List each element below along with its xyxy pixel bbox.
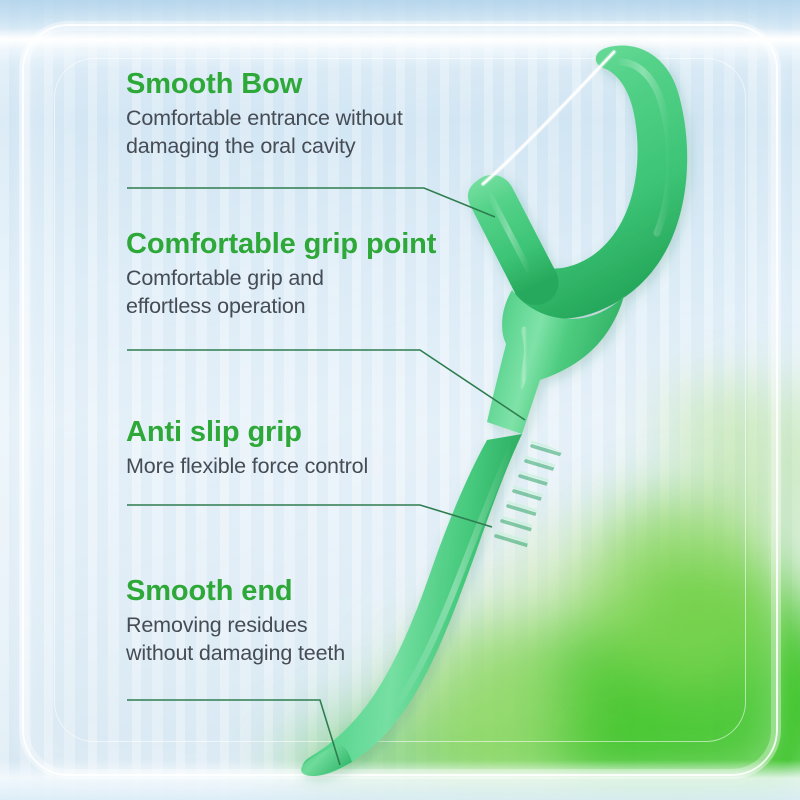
leader-line-grip-point bbox=[127, 350, 525, 420]
leader-line-anti-slip-grip bbox=[127, 505, 492, 527]
feature-desc-line: Comfortable entrance without bbox=[126, 105, 403, 133]
feature-title-comfortable-grip-point: Comfortable grip point bbox=[126, 228, 436, 260]
feature-desc-line: damaging the oral cavity bbox=[126, 133, 403, 161]
feature-desc-line: Removing residues bbox=[126, 612, 345, 640]
leader-line-smooth-end bbox=[127, 700, 340, 765]
feature-smooth-end: Smooth end Removing residues without dam… bbox=[126, 575, 345, 668]
feature-desc-smooth-end: Removing residues without damaging teeth bbox=[126, 612, 345, 667]
infographic-scene: Smooth Bow Comfortable entrance without … bbox=[0, 0, 800, 800]
feature-desc-line: without damaging teeth bbox=[126, 640, 345, 668]
feature-smooth-bow: Smooth Bow Comfortable entrance without … bbox=[126, 68, 403, 161]
feature-comfortable-grip-point: Comfortable grip point Comfortable grip … bbox=[126, 228, 436, 321]
feature-desc-line: More flexible force control bbox=[126, 453, 368, 481]
feature-desc-anti-slip-grip: More flexible force control bbox=[126, 453, 368, 481]
feature-title-smooth-bow: Smooth Bow bbox=[126, 68, 403, 100]
feature-desc-line: Comfortable grip and bbox=[126, 265, 436, 293]
feature-desc-line: effortless operation bbox=[126, 293, 436, 321]
feature-desc-comfortable-grip-point: Comfortable grip and effortless operatio… bbox=[126, 265, 436, 320]
feature-title-anti-slip-grip: Anti slip grip bbox=[126, 416, 368, 448]
feature-desc-smooth-bow: Comfortable entrance without damaging th… bbox=[126, 105, 403, 160]
feature-anti-slip-grip: Anti slip grip More flexible force contr… bbox=[126, 416, 368, 481]
leader-line-smooth-bow bbox=[127, 188, 495, 217]
feature-title-smooth-end: Smooth end bbox=[126, 575, 345, 607]
